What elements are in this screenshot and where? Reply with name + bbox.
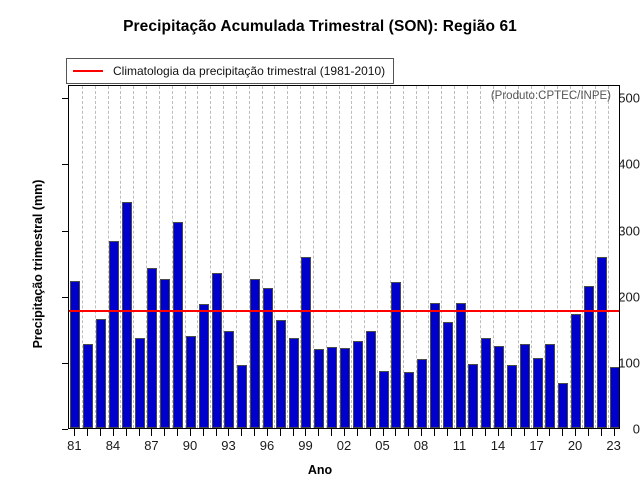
x-tick-mark bbox=[280, 429, 281, 436]
bar bbox=[314, 349, 324, 428]
bar bbox=[481, 338, 491, 428]
x-tick-mark bbox=[113, 429, 114, 436]
x-tick-mark bbox=[357, 429, 358, 436]
bar bbox=[391, 282, 401, 428]
bar bbox=[135, 338, 145, 428]
bar bbox=[70, 281, 80, 428]
x-tick-label: 81 bbox=[67, 438, 81, 453]
x-tick-mark bbox=[177, 429, 178, 436]
x-tick-mark bbox=[100, 429, 101, 436]
bar bbox=[558, 383, 568, 428]
bar bbox=[468, 364, 478, 428]
bar bbox=[366, 331, 376, 428]
x-tick-mark bbox=[614, 429, 615, 436]
x-tick-mark bbox=[601, 429, 602, 436]
x-tick-mark bbox=[383, 429, 384, 436]
legend: Climatologia da precipitação trimestral … bbox=[66, 58, 394, 84]
bar bbox=[147, 268, 157, 428]
x-tick-label: 14 bbox=[491, 438, 505, 453]
bar bbox=[571, 314, 581, 428]
x-tick-mark bbox=[549, 429, 550, 436]
bar bbox=[430, 303, 440, 428]
x-tick-mark bbox=[254, 429, 255, 436]
legend-line-swatch bbox=[73, 70, 103, 72]
x-tick-label: 17 bbox=[529, 438, 543, 453]
x-tick-mark bbox=[434, 429, 435, 436]
bar bbox=[340, 348, 350, 428]
bar bbox=[597, 257, 607, 428]
x-tick-mark bbox=[485, 429, 486, 436]
bar bbox=[224, 331, 234, 428]
x-axis-label: Ano bbox=[0, 463, 640, 477]
x-tick-mark bbox=[395, 429, 396, 436]
bar bbox=[96, 319, 106, 428]
x-tick-label: 96 bbox=[260, 438, 274, 453]
x-tick-label: 23 bbox=[606, 438, 620, 453]
x-tick-mark bbox=[331, 429, 332, 436]
plot-area: (Produto:CPTEC/INPE) bbox=[68, 85, 620, 429]
bar bbox=[289, 338, 299, 428]
chart-title: Precipitação Acumulada Trimestral (SON):… bbox=[0, 18, 640, 36]
legend-label: Climatologia da precipitação trimestral … bbox=[113, 64, 385, 78]
bar bbox=[237, 365, 247, 428]
x-tick-mark bbox=[190, 429, 191, 436]
x-tick-mark bbox=[575, 429, 576, 436]
x-tick-mark bbox=[216, 429, 217, 436]
bar bbox=[173, 222, 183, 428]
bar bbox=[610, 367, 620, 428]
gridline bbox=[557, 86, 558, 428]
bar bbox=[533, 358, 543, 428]
bar bbox=[584, 286, 594, 428]
x-tick-label: 08 bbox=[414, 438, 428, 453]
bar bbox=[443, 322, 453, 428]
bar bbox=[199, 304, 209, 428]
y-axis-label: Precipitação trimestral (mm) bbox=[31, 139, 45, 389]
x-tick-mark bbox=[511, 429, 512, 436]
x-tick-mark bbox=[370, 429, 371, 436]
x-tick-label: 90 bbox=[183, 438, 197, 453]
x-tick-mark bbox=[164, 429, 165, 436]
bar bbox=[327, 347, 337, 428]
bar bbox=[109, 241, 119, 428]
bar bbox=[122, 202, 132, 428]
x-tick-label: 93 bbox=[221, 438, 235, 453]
x-tick-mark bbox=[267, 429, 268, 436]
x-tick-mark bbox=[293, 429, 294, 436]
bar bbox=[494, 346, 504, 428]
x-tick-mark bbox=[408, 429, 409, 436]
bar bbox=[83, 344, 93, 428]
x-tick-mark bbox=[318, 429, 319, 436]
bar bbox=[417, 359, 427, 428]
x-tick-mark bbox=[151, 429, 152, 436]
x-tick-mark bbox=[460, 429, 461, 436]
bar bbox=[507, 365, 517, 429]
x-tick-mark bbox=[87, 429, 88, 436]
x-tick-mark bbox=[241, 429, 242, 436]
x-tick-label: 84 bbox=[106, 438, 120, 453]
x-tick-mark bbox=[562, 429, 563, 436]
bar bbox=[186, 336, 196, 428]
x-tick-mark bbox=[472, 429, 473, 436]
climatology-reference-line bbox=[69, 310, 619, 312]
bar bbox=[379, 371, 389, 428]
x-tick-label: 02 bbox=[337, 438, 351, 453]
x-tick-mark bbox=[228, 429, 229, 436]
bar bbox=[404, 372, 414, 428]
x-tick-mark bbox=[305, 429, 306, 436]
x-tick-mark bbox=[447, 429, 448, 436]
x-tick-label: 20 bbox=[568, 438, 582, 453]
bar bbox=[545, 344, 555, 428]
x-tick-label: 99 bbox=[298, 438, 312, 453]
x-tick-mark bbox=[139, 429, 140, 436]
x-tick-mark bbox=[537, 429, 538, 436]
y-tick-mark bbox=[62, 429, 68, 430]
bar bbox=[301, 257, 311, 428]
x-tick-label: 11 bbox=[453, 438, 467, 453]
chart-figure: Precipitação Acumulada Trimestral (SON):… bbox=[0, 0, 640, 500]
bar bbox=[212, 273, 222, 428]
bar bbox=[520, 344, 530, 428]
x-tick-mark bbox=[498, 429, 499, 436]
x-tick-label: 87 bbox=[144, 438, 158, 453]
bar bbox=[276, 320, 286, 428]
bar bbox=[353, 341, 363, 428]
x-tick-mark bbox=[524, 429, 525, 436]
bar bbox=[456, 303, 466, 428]
x-tick-mark bbox=[588, 429, 589, 436]
bar bbox=[160, 279, 170, 428]
x-tick-mark bbox=[421, 429, 422, 436]
bar bbox=[250, 279, 260, 428]
source-annotation: (Produto:CPTEC/INPE) bbox=[491, 90, 611, 102]
x-tick-mark bbox=[344, 429, 345, 436]
x-tick-mark bbox=[126, 429, 127, 436]
x-tick-mark bbox=[203, 429, 204, 436]
x-tick-label: 05 bbox=[375, 438, 389, 453]
x-tick-mark bbox=[74, 429, 75, 436]
